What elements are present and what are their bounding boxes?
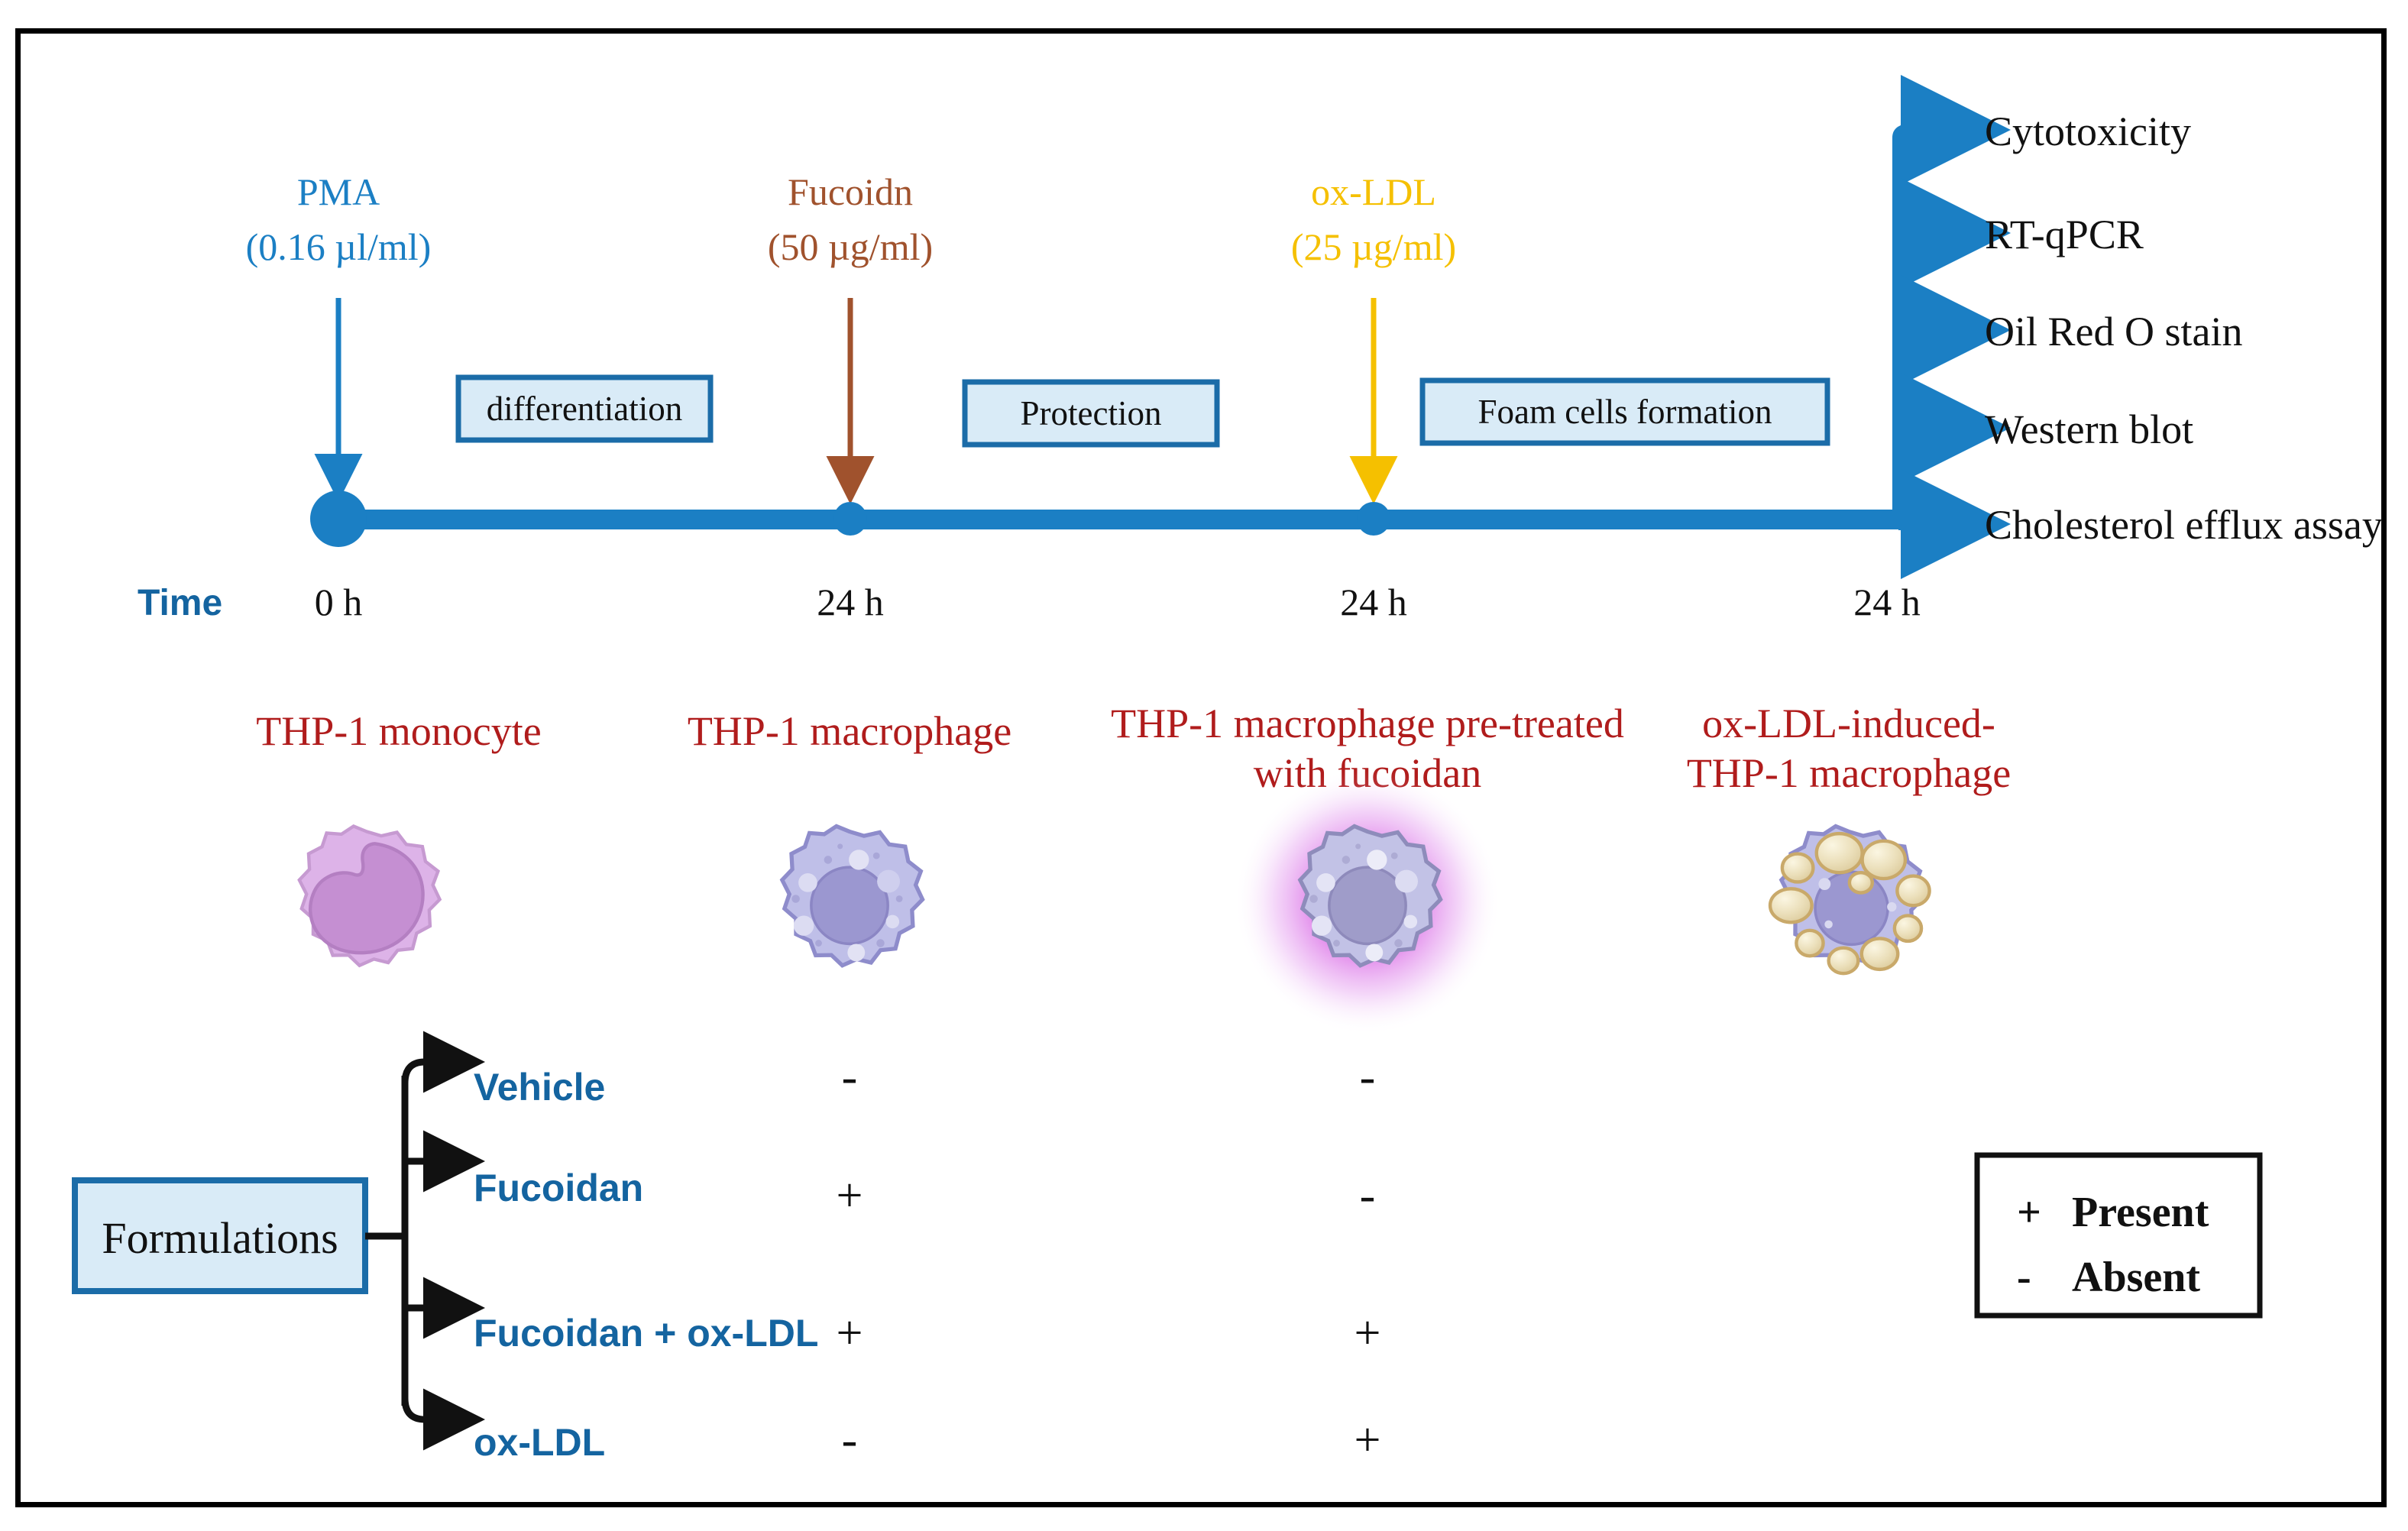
assay-label-western-blot: Western blot <box>1985 406 2193 452</box>
legend-meaning-absent: Absent <box>2072 1254 2200 1301</box>
cell-label-macrophage: THP-1 macrophage <box>688 708 1011 754</box>
cell-illustration-foam-cell <box>1770 826 1930 973</box>
cell-label-foam-cell-line1: ox-LDL-induced- <box>1702 701 1995 746</box>
timeline-node-24h-1 <box>833 502 867 536</box>
assay-label-oil-red-o-stain: Oil Red O stain <box>1985 309 2242 354</box>
phase-label-foam-cells-formation: Foam cells formation <box>1478 393 1772 431</box>
time-axis-label: Time <box>138 583 222 623</box>
phase-label-differentiation: differentiation <box>487 390 683 428</box>
formulation-label-oxldl: ox-LDL <box>474 1421 605 1464</box>
formulations-box: Formulations <box>75 1180 365 1291</box>
legend-symbol-present: + <box>2017 1189 2041 1236</box>
treatment-label-fucoidan: Fucoidn <box>788 170 913 213</box>
formulation-label-fucoidan: Fucoidan <box>474 1167 643 1209</box>
matrix-cell-macrophage-fucoidan-oxldl: + <box>837 1307 863 1359</box>
formulations-branch-oxldl <box>405 1398 451 1419</box>
timeline-node-0h <box>310 490 367 547</box>
workflow-diagram: PMA (0.16 µl/ml) Fucoidn (50 µg/ml) ox-L… <box>0 0 2408 1531</box>
assay-label-cholesterol-efflux-assay: Cholesterol efflux assay <box>1985 502 2383 548</box>
treatment-dose-fucoidan: (50 µg/ml) <box>768 225 933 268</box>
time-tick-0: 0 h <box>315 581 363 623</box>
matrix-cell-pretreated-vehicle: - <box>1360 1051 1376 1103</box>
matrix-cell-macrophage-oxldl: - <box>842 1414 858 1466</box>
time-tick-1: 24 h <box>817 581 884 623</box>
matrix-cell-pretreated-fucoidan-oxldl: + <box>1354 1307 1381 1359</box>
legend-box: + Present - Absent <box>1977 1155 2260 1316</box>
treatment-label-pma: PMA <box>297 170 380 213</box>
phase-box-protection: Protection <box>965 382 1217 445</box>
cell-illustration-fucoidan-pretreated <box>1234 768 1501 1035</box>
cell-label-monocyte: THP-1 monocyte <box>256 708 541 754</box>
formulation-label-vehicle: Vehicle <box>474 1066 605 1109</box>
treatment-dose-pma: (0.16 µl/ml) <box>246 225 432 268</box>
matrix-cell-macrophage-vehicle: - <box>842 1051 858 1103</box>
formulations-branch-vehicle <box>405 1062 451 1083</box>
cell-label-foam-cell-line2: THP-1 macrophage <box>1687 750 2011 796</box>
phase-box-differentiation: differentiation <box>458 377 710 440</box>
time-tick-2: 24 h <box>1340 581 1407 623</box>
assay-label-rtqpcr: RT-qPCR <box>1985 212 2144 257</box>
matrix-cell-pretreated-fucoidan: - <box>1360 1170 1376 1222</box>
legend-meaning-present: Present <box>2072 1189 2209 1236</box>
formulations-title: Formulations <box>102 1213 338 1263</box>
formulation-label-fucoidan-oxldl: Fucoidan + ox-LDL <box>474 1312 818 1355</box>
assay-label-cytotoxicity: Cytotoxicity <box>1985 108 2191 154</box>
cell-illustration-monocyte <box>299 826 440 965</box>
matrix-cell-pretreated-oxldl: + <box>1354 1414 1381 1466</box>
assay-branch-cytotoxicity <box>1898 130 1950 138</box>
treatment-dose-oxldl: (25 µg/ml) <box>1291 225 1456 268</box>
phase-box-foam-cells-formation: Foam cells formation <box>1422 380 1827 443</box>
cell-label-fucoidan-pretreated-line1: THP-1 macrophage pre-treated <box>1111 701 1624 746</box>
treatment-label-oxldl: ox-LDL <box>1311 170 1436 213</box>
time-tick-3: 24 h <box>1853 581 1921 623</box>
legend-symbol-absent: - <box>2017 1254 2031 1301</box>
cell-illustration-macrophage <box>782 826 923 965</box>
timeline-node-24h-2 <box>1357 502 1390 536</box>
matrix-cell-macrophage-fucoidan: + <box>837 1170 863 1222</box>
phase-label-protection: Protection <box>1021 394 1162 432</box>
